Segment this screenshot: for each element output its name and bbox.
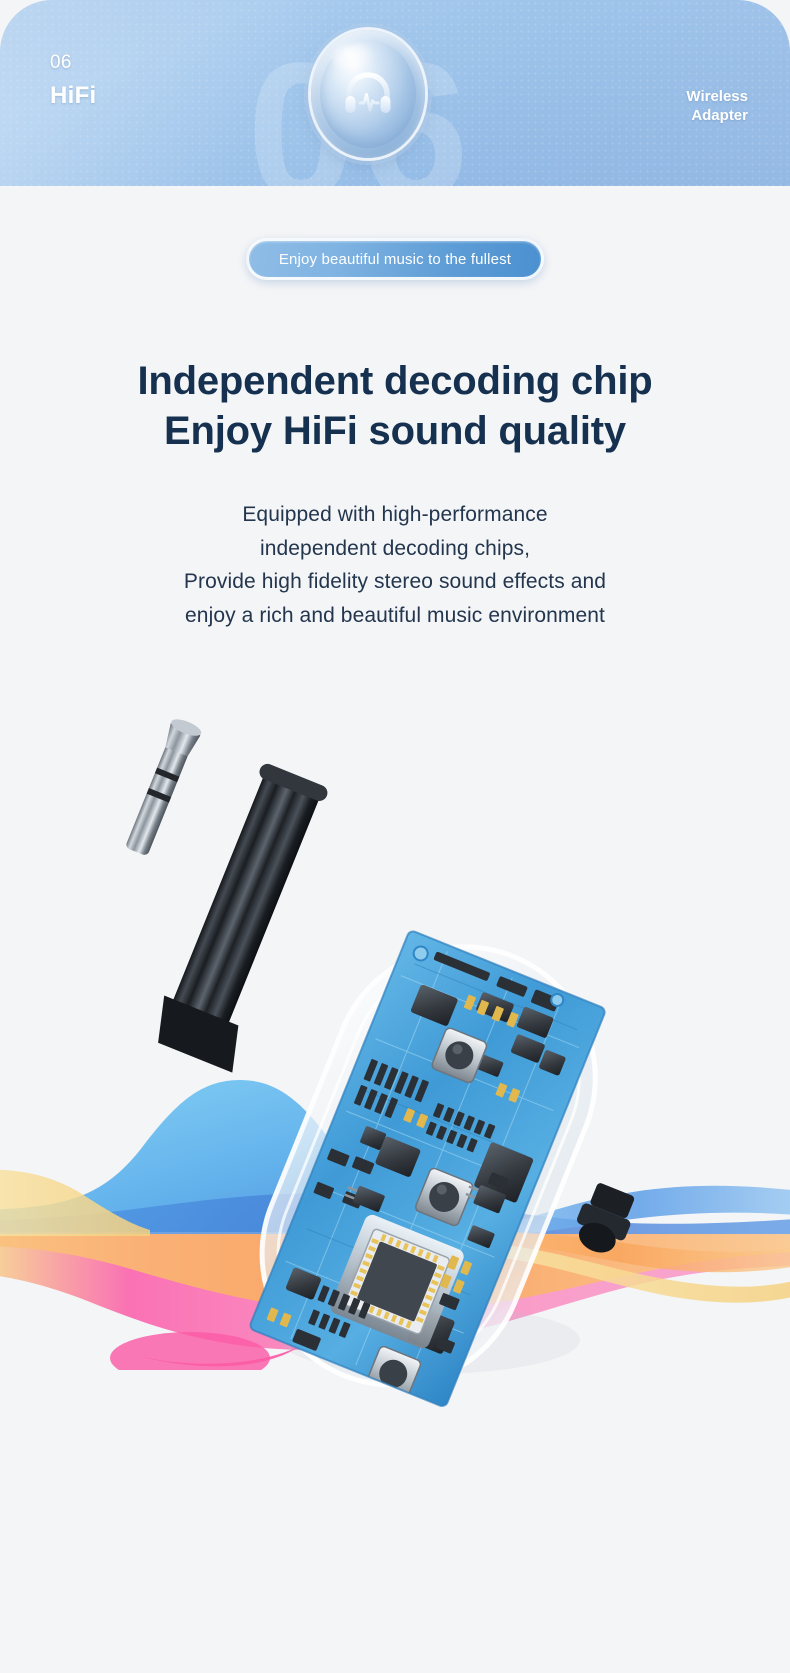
banner-brand-line-2: Adapter <box>686 107 748 126</box>
description-line-1: Equipped with high-performance <box>0 498 790 532</box>
hifi-badge <box>311 30 425 158</box>
audio-jack-plug <box>121 716 344 1073</box>
headphones-waveform-icon <box>311 30 425 158</box>
description-line-4: enjoy a rich and beautiful music environ… <box>0 599 790 633</box>
page-title-line-2: Enjoy HiFi sound quality <box>0 406 790 456</box>
description-line-2: independent decoding chips, <box>0 532 790 566</box>
banner-section-label: 06 HiFi <box>50 52 97 110</box>
banner-brand-label: Wireless Adapter <box>686 88 748 126</box>
side-port <box>568 1180 641 1261</box>
header-banner: 06 06 HiFi Wireless Adapter <box>0 0 790 186</box>
tagline-pill: Enjoy beautiful music to the fullest <box>246 238 544 280</box>
page-title-line-1: Independent decoding chip <box>0 356 790 406</box>
description-text: Equipped with high-performance independe… <box>0 498 790 632</box>
description-line-3: Provide high fidelity stereo sound effec… <box>0 565 790 599</box>
banner-brand-line-1: Wireless <box>686 88 748 107</box>
banner-section-number: 06 <box>50 52 97 74</box>
page-title: Independent decoding chip Enjoy HiFi sou… <box>0 356 790 457</box>
product-image <box>0 640 790 1440</box>
banner-section-name: HiFi <box>50 82 97 110</box>
tagline-pill-container: Enjoy beautiful music to the fullest <box>0 238 790 280</box>
